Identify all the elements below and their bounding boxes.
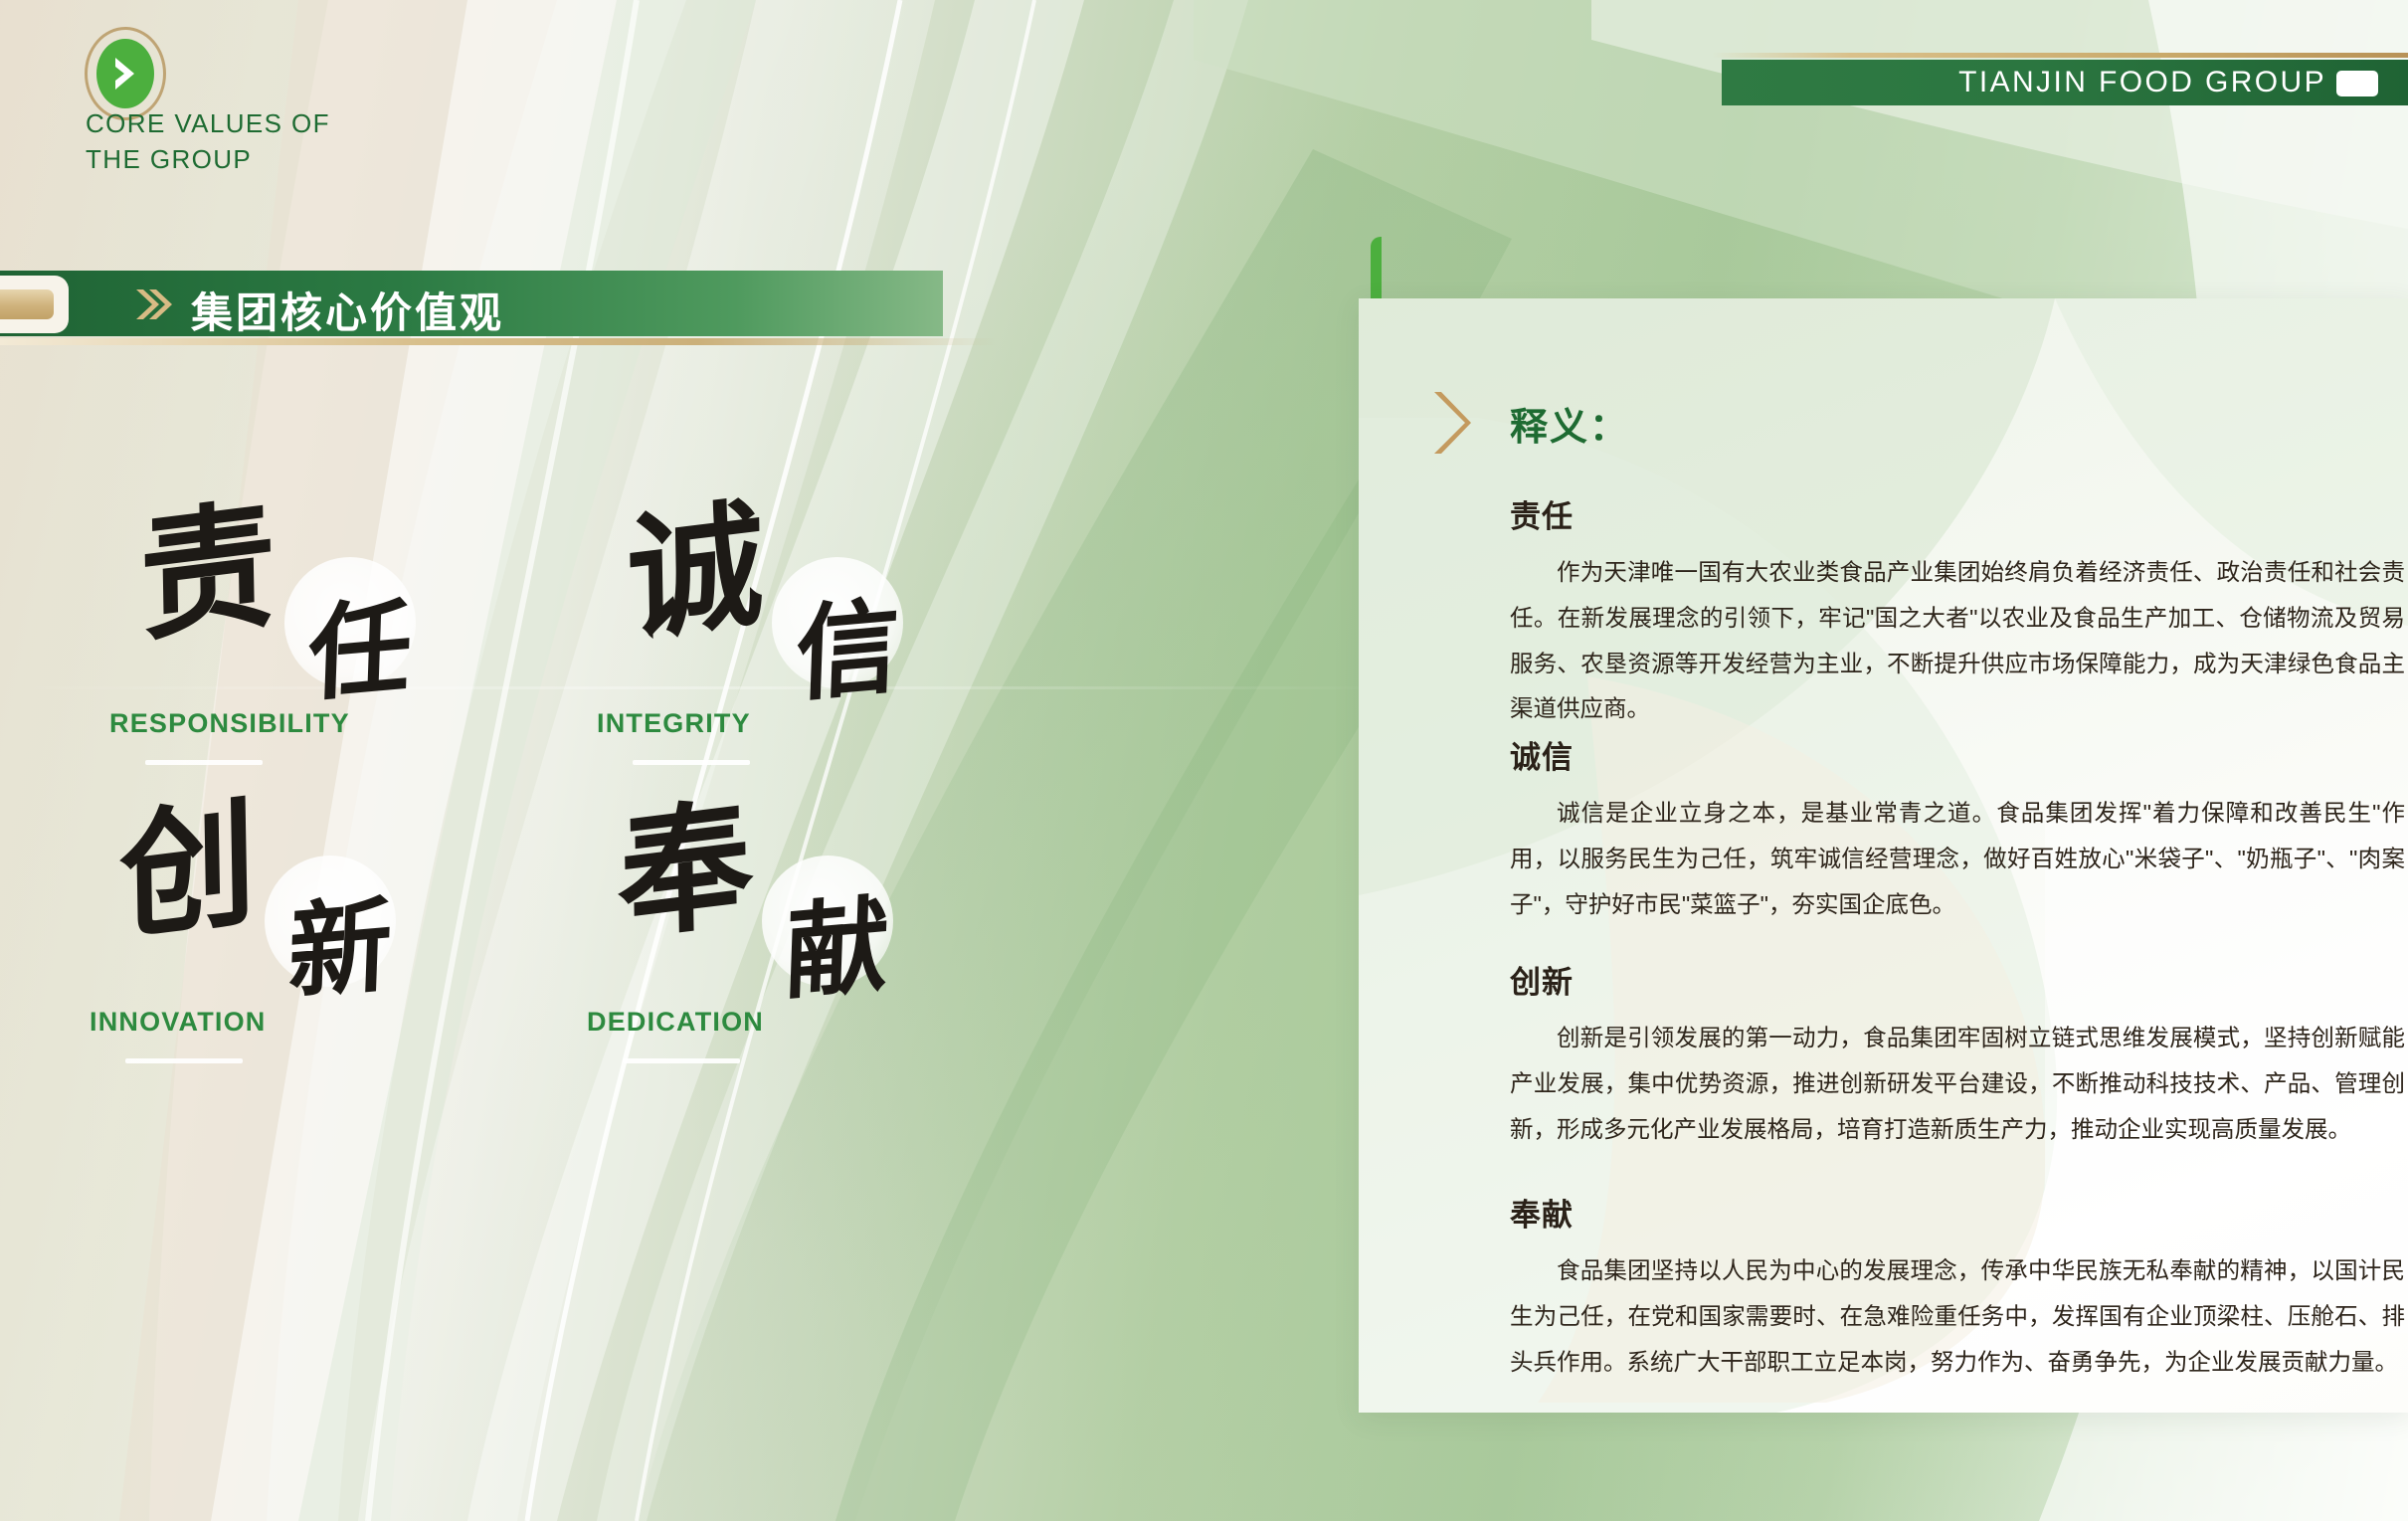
section-body: 食品集团坚持以人民为中心的发展理念，传承中华民族无私奉献的精神，以国计民生为己任… <box>1510 1248 2405 1385</box>
explanation-section-responsibility: 责任 作为天津唯一国有大农业类食品产业集团始终肩负着经济责任、政治责任和社会责任… <box>1510 491 2405 732</box>
value-rule <box>623 1058 740 1063</box>
section-heading: 诚信 <box>1510 732 2405 777</box>
core-values-line-2: THE GROUP <box>86 142 503 178</box>
section-body: 创新是引领发展的第一动力，食品集团牢固树立链式思维发展模式，坚持创新赋能产业发展… <box>1510 1016 2405 1152</box>
value-char-1: 创 <box>118 793 257 948</box>
poster-canvas: CORE VALUES OF THE GROUP TIANJIN FOOD GR… <box>0 0 2408 1521</box>
value-rule <box>145 760 263 765</box>
value-char-1: 诚 <box>626 494 764 650</box>
value-rule <box>633 760 750 765</box>
section-heading: 奉献 <box>1510 1190 2405 1235</box>
chevron-right-icon <box>1429 390 1471 456</box>
section-body: 诚信是企业立身之本，是基业常青之道。食品集团发挥"着力保障和改善民生"作用，以服… <box>1510 791 2405 927</box>
section-heading: 责任 <box>1510 491 2405 536</box>
value-rule <box>125 1058 243 1063</box>
section-heading: 创新 <box>1510 957 2405 1002</box>
chevron-right-circle-logo-icon <box>112 56 139 92</box>
section-title-badge <box>0 279 66 330</box>
explanation-section-integrity: 诚信 诚信是企业立身之本，是基业常青之道。食品集团发挥"着力保障和改善民生"作用… <box>1510 732 2405 927</box>
value-label-en: DEDICATION <box>587 1007 764 1038</box>
value-card-responsibility: 责 任 RESPONSIBILITY <box>109 495 607 794</box>
double-chevron-right-icon <box>132 285 172 324</box>
explanation-heading: 释义： <box>1510 396 1629 451</box>
core-values-line-1: CORE VALUES OF <box>86 106 503 142</box>
value-label-en: INNOVATION <box>90 1007 267 1038</box>
value-card-dedication: 奉 献 DEDICATION <box>587 794 1084 1092</box>
value-char-1: 责 <box>138 494 277 650</box>
explanation-section-dedication: 奉献 食品集团坚持以人民为中心的发展理念，传承中华民族无私奉献的精神，以国计民生… <box>1510 1190 2405 1385</box>
explanation-section-innovation: 创新 创新是引领发展的第一动力，食品集团牢固树立链式思维发展模式，坚持创新赋能产… <box>1510 957 2405 1152</box>
section-body: 作为天津唯一国有大农业类食品产业集团始终肩负着经济责任、政治责任和社会责任。在新… <box>1510 550 2405 732</box>
value-card-integrity: 诚 信 INTEGRITY <box>597 495 1094 794</box>
core-values-grid: 责 任 RESPONSIBILITY 诚 信 INTEGRITY 创 新 INN… <box>0 495 1054 1122</box>
core-values-english-title: CORE VALUES OF THE GROUP <box>86 106 503 178</box>
value-char-2: 任 <box>306 594 413 707</box>
value-char-2: 信 <box>794 594 900 707</box>
value-label-en: INTEGRITY <box>597 708 751 739</box>
brandbar-gold-rule <box>1712 53 2408 58</box>
value-label-en: RESPONSIBILITY <box>109 708 350 739</box>
value-char-2: 献 <box>784 892 890 1006</box>
brandbar-chip <box>2336 71 2378 96</box>
section-title: 集团核心价值观 <box>191 280 504 340</box>
value-char-1: 奉 <box>616 793 754 948</box>
value-char-2: 新 <box>286 892 393 1006</box>
value-card-innovation: 创 新 INNOVATION <box>90 794 587 1092</box>
group-name-en: TIANJIN FOOD GROUP <box>1958 66 2326 99</box>
